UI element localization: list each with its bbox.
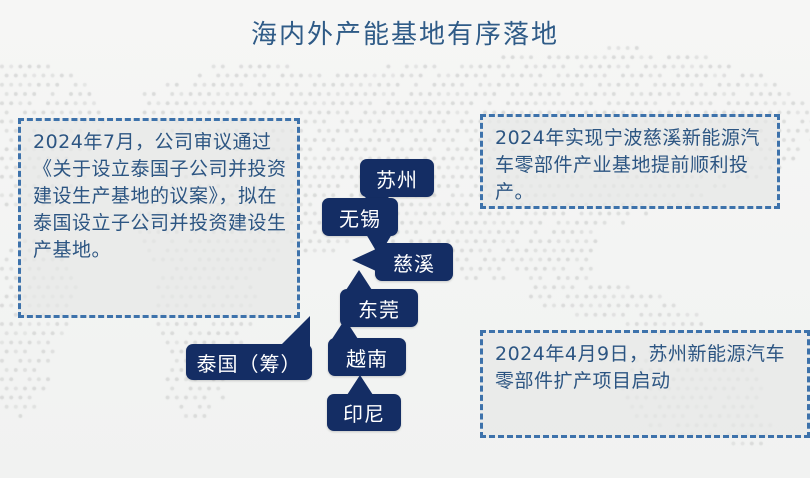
map-label-cixi-text: 慈溪 bbox=[393, 248, 435, 277]
note-box-cixi: 2024年实现宁波慈溪新能源汽车零部件产业基地提前顺利投产。 bbox=[480, 114, 780, 209]
pointer-tail-icon bbox=[347, 375, 373, 395]
map-label-vietnam[interactable]: 越南 bbox=[328, 338, 406, 376]
note-box-thailand: 2024年7月，公司审议通过《关于设立泰国子公司并投资建设生产基地的议案》，拟在… bbox=[18, 118, 300, 318]
map-label-dongguan-text: 东莞 bbox=[358, 294, 400, 323]
map-label-wuxi-text: 无锡 bbox=[339, 203, 381, 232]
map-label-suzhou-text: 苏州 bbox=[376, 164, 418, 193]
slide-canvas: 海内外产能基地有序落地 2024年7月，公司审议通过《关于设立泰国子公司并投资建… bbox=[0, 0, 810, 478]
map-label-indonesia[interactable]: 印尼 bbox=[327, 394, 401, 431]
map-label-indonesia-text: 印尼 bbox=[343, 398, 385, 427]
pointer-tail-icon bbox=[332, 319, 358, 339]
map-label-vietnam-text: 越南 bbox=[346, 343, 388, 372]
pointer-tail-icon bbox=[280, 316, 310, 346]
map-label-cixi[interactable]: 慈溪 bbox=[375, 243, 453, 281]
map-label-thailand-text: 泰国（筹） bbox=[197, 348, 302, 377]
note-box-suzhou: 2024年4月9日，苏州新能源汽车零部件扩产项目启动 bbox=[480, 330, 810, 438]
pointer-tail-icon bbox=[346, 270, 372, 290]
map-label-wuxi[interactable]: 无锡 bbox=[322, 198, 398, 236]
page-title: 海内外产能基地有序落地 bbox=[0, 14, 810, 51]
map-label-thailand[interactable]: 泰国（筹） bbox=[186, 344, 312, 380]
pointer-tail-icon bbox=[352, 249, 376, 271]
map-label-suzhou[interactable]: 苏州 bbox=[360, 159, 434, 197]
